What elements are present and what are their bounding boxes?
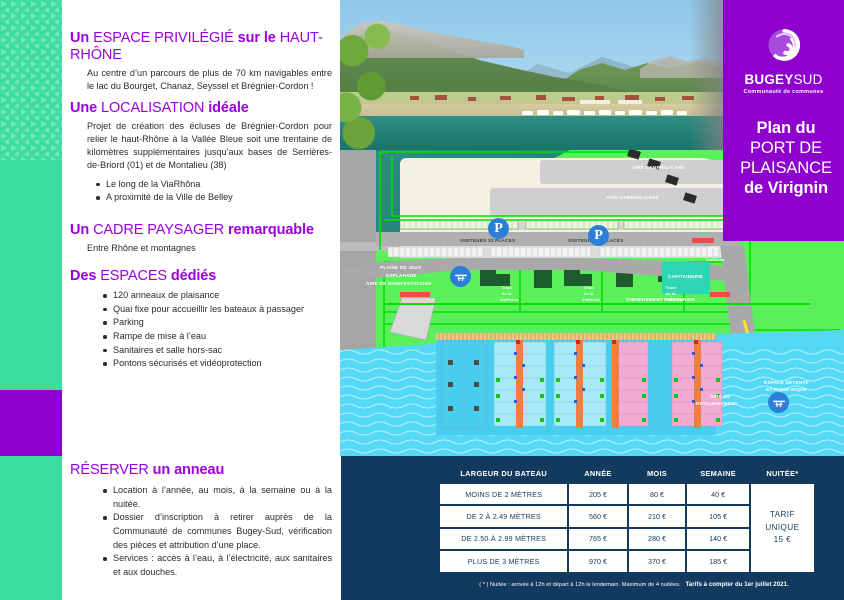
cell-semaine: 40 € <box>687 484 748 504</box>
section-heading: Une LOCALISATION idéale <box>70 100 332 117</box>
row-label: PLUS DE 3 MÈTRES <box>440 551 567 571</box>
list-item: 120 anneaux de plaisance <box>104 289 332 303</box>
logo: BUGEYSUD Communauté de communes <box>723 28 844 95</box>
map-label-aire-de: AIRE DE <box>710 394 730 399</box>
section-reserver-un-anneau: RÉSERVER un anneau Location à l’année, a… <box>70 462 332 580</box>
section-localisation-ideale: Une LOCALISATION idéale Projet de créati… <box>70 100 332 205</box>
map-label-cheminement-pietonnier: CHEMINEMENT PIÉTONNIER <box>626 297 695 302</box>
cell-semaine: 105 € <box>687 506 748 526</box>
section-heading: Un CADRE PAYSAGER remarquable <box>70 222 332 239</box>
row-label: DE 2 À 2.49 MÈTRES <box>440 506 567 526</box>
title-panel: BUGEYSUD Communauté de communes Plan du … <box>723 0 844 241</box>
list-item: Location à l’année, au mois, à la semain… <box>104 484 332 511</box>
map-label-esplanade: ESPLANADE <box>386 273 417 278</box>
spiral-swirl-icon <box>767 28 801 62</box>
pricing-footnote: ( * ) Nuitée : arrivée à 12h et départ à… <box>449 581 819 588</box>
cell-mois: 280 € <box>629 529 686 549</box>
parking-icon[interactable]: P <box>488 218 509 239</box>
map-label-camping-cars-1: AIRE CAMPING-CARS <box>632 165 685 170</box>
title-line-4: de Virignin <box>728 178 844 198</box>
list-item: Rampe de mise à l’eau <box>104 330 332 344</box>
footnote-text: ( * ) Nuitée : arrivée à 12h et départ à… <box>479 582 680 588</box>
map-label-viarhona-trace-4a: Tracé <box>708 246 719 250</box>
pricing-panel: LARGEUR DU BATEAU ANNÉE MOIS SEMAINE NUI… <box>341 456 844 600</box>
row-label: DE 2.50 À 2.99 MÈTRES <box>440 529 567 549</box>
column-header-annee: ANNÉE <box>569 468 626 482</box>
header-photo-landscape <box>340 0 723 150</box>
parking-icon[interactable]: P <box>588 225 609 246</box>
map-label-viarhona-trace-2b: de la <box>584 292 593 296</box>
map-label-viarhona-trace-4c: ViaRhôna <box>706 258 725 262</box>
section-body: Entre Rhône et montagnes <box>70 242 332 255</box>
list-item: Quai fixe pour accueillir les bateaux à … <box>104 303 332 317</box>
map-label-viarhona-trace-1c: ViaRhôna <box>500 298 519 302</box>
title-line-2: PORT DE <box>728 138 844 158</box>
picnic-table-icon[interactable] <box>450 266 471 287</box>
cell-annee: 205 € <box>569 484 626 504</box>
section-body: Au centre d’un parcours de plus de 70 km… <box>70 67 332 93</box>
map-label-viarhona-trace-1a: Tracé <box>502 286 513 290</box>
cell-mois: 210 € <box>629 506 686 526</box>
list-item: Services : accès à l’eau, à l’électricit… <box>104 552 332 579</box>
map-label-plaine-de-jeux: PLAINE DE JEUX <box>380 265 421 270</box>
logo-tagline: Communauté de communes <box>723 89 844 95</box>
map-label-viarhona-trace-1b: de la <box>502 292 511 296</box>
table-row: MOINS DE 2 MÈTRES 205 € 80 € 40 € TARIF … <box>440 484 814 504</box>
section-heading: Un ESPACE PRIVILÉGIÉ sur le HAUT-RHÔNE <box>70 30 332 64</box>
section-heading: Des ESPACES dédiés <box>70 268 332 285</box>
cell-nuitee-tarif-unique: TARIF UNIQUE 15 € <box>751 484 814 572</box>
brochure-page: Un ESPACE PRIVILÉGIÉ sur le HAUT-RHÔNE A… <box>0 0 844 600</box>
map-label-viarhona-trace-3c: ViaRhôna <box>664 298 683 302</box>
list-item: Parking <box>104 316 332 330</box>
column-header-mois: MOIS <box>629 468 686 482</box>
page-title: Plan du PORT DE PLAISANCE de Virignin <box>723 118 844 199</box>
logo-wordmark: BUGEYSUD <box>723 73 844 87</box>
map-label-capitainerie: CAPITAINERIE <box>668 274 703 279</box>
column-header-semaine: SEMAINE <box>687 468 748 482</box>
title-line-1: Plan du <box>728 118 844 138</box>
map-label-viarhona-trace-2c: ViaRhôna <box>582 298 601 302</box>
cell-semaine: 140 € <box>687 529 748 549</box>
map-label-visiteurs-32: VISITEURS 32 PLACES <box>460 238 515 243</box>
cell-annee: 970 € <box>569 551 626 571</box>
map-label-viarhona-trace-3a: Tracé <box>666 286 677 290</box>
pricing-table: LARGEUR DU BATEAU ANNÉE MOIS SEMAINE NUI… <box>438 466 816 574</box>
right-white-gap <box>786 241 844 456</box>
map-label-retournement: RETOURNEMENT <box>696 401 738 406</box>
section-cadre-paysager: Un CADRE PAYSAGER remarquable Entre Rhôn… <box>70 222 332 261</box>
table-header-row: LARGEUR DU BATEAU ANNÉE MOIS SEMAINE NUI… <box>440 468 814 482</box>
cell-annee: 765 € <box>569 529 626 549</box>
column-header-nuitee: NUITÉE* <box>751 468 814 482</box>
footnote-validity: Tarifs à compter du 1er juillet 2021. <box>685 581 788 588</box>
section-heading: RÉSERVER un anneau <box>70 462 332 479</box>
title-line-3: PLAISANCE <box>728 158 844 178</box>
reserve-bullet-list: Location à l’année, au mois, à la semain… <box>70 484 332 579</box>
cell-annee: 560 € <box>569 506 626 526</box>
triangle-pattern-decor <box>0 0 62 160</box>
list-item: Dossier d’inscription à retirer auprès d… <box>104 511 332 552</box>
list-item: Le long de la ViaRhôna <box>97 178 332 192</box>
map-label-viarhona-trace-4b: de la <box>708 252 717 256</box>
section-espace-privilegie: Un ESPACE PRIVILÉGIÉ sur le HAUT-RHÔNE A… <box>70 30 332 99</box>
section-bullet-list: 120 anneaux de plaisance Quai fixe pour … <box>70 289 332 371</box>
row-label: MOINS DE 2 MÈTRES <box>440 484 567 504</box>
list-item: Sanitaires et salle hors-sac <box>104 344 332 358</box>
section-body: Projet de création des écluses de Brégni… <box>70 120 332 172</box>
nuitee-line-3: 15 € <box>753 534 812 546</box>
map-label-viarhona-trace-2a: Tracé <box>584 286 595 290</box>
left-teal-band-lower <box>0 456 62 600</box>
map-label-viarhona-trace-3b: de la <box>666 292 675 296</box>
list-item: A proximité de la Ville de Belley <box>97 191 332 205</box>
cell-semaine: 185 € <box>687 551 748 571</box>
section-bullet-list: Le long de la ViaRhôna A proximité de la… <box>70 178 332 205</box>
nuitee-line-1: TARIF <box>753 509 812 521</box>
pontoon-berths <box>436 338 726 438</box>
cell-mois: 80 € <box>629 484 686 504</box>
list-item: Pontons sécurisés et vidéoprotection <box>104 357 332 371</box>
map-label-aire-manifestations: AIRE DE MANIFESTATIONS <box>366 281 432 286</box>
map-label-camping-cars-2: AIRE CAMPING-CARS <box>606 195 659 200</box>
section-espaces-dedies: Des ESPACES dédiés 120 anneaux de plaisa… <box>70 268 332 371</box>
nuitee-line-2: UNIQUE <box>753 522 812 534</box>
cell-mois: 370 € <box>629 551 686 571</box>
column-header-largeur: LARGEUR DU BATEAU <box>440 468 567 482</box>
